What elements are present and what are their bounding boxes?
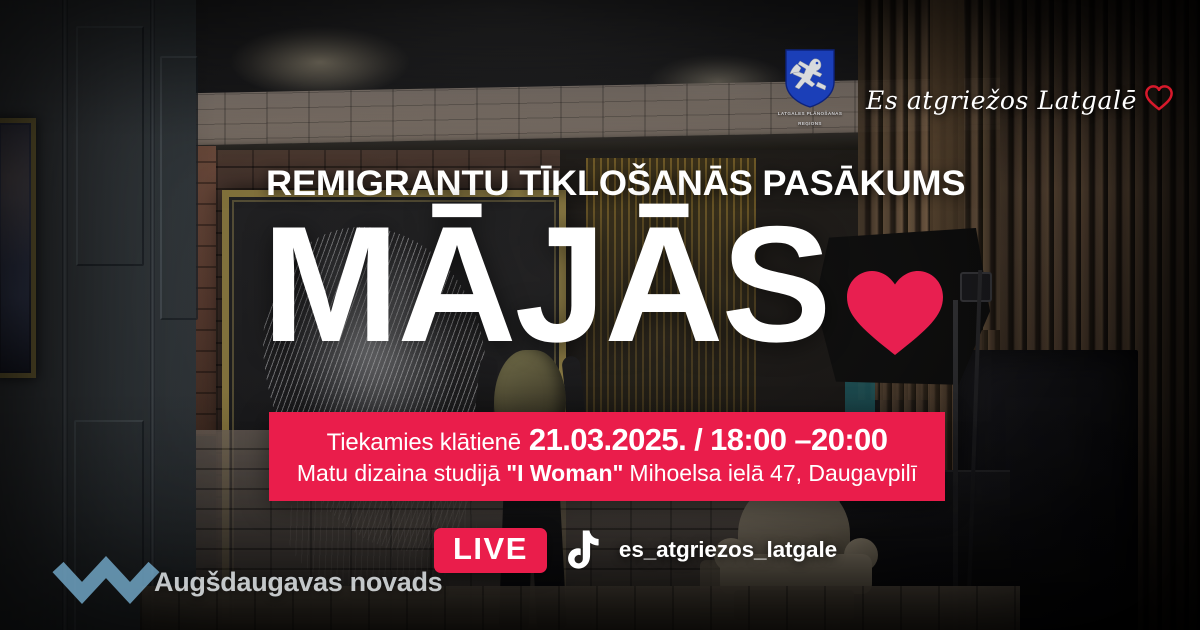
tiktok-icon[interactable] — [565, 529, 603, 571]
coat-of-arms-caption-line1: LATGALES PLĀNOŠANAS — [775, 111, 845, 118]
banner-line-1: Tiekamies klātienē 21.03.2025. / 18:00 –… — [291, 421, 923, 458]
slogan-block: Es atgriežos Latgalē — [866, 84, 1174, 117]
page-title: MĀJĀS — [262, 205, 830, 363]
slogan-text: Es atgriežos Latgalē — [866, 86, 1137, 115]
coat-of-arms-shield-icon — [784, 48, 836, 108]
live-stream-row: LIVE es_atgriezos_latgale — [434, 528, 837, 573]
tiktok-handle[interactable]: es_atgriezos_latgale — [619, 537, 837, 563]
overlay-layer: LATGALES PLĀNOŠANAS REĢIONS Es atgriežos… — [0, 0, 1200, 630]
status-badge: LIVE — [434, 528, 547, 573]
heart-outline-icon — [1144, 84, 1174, 117]
heart-filled-icon — [845, 265, 945, 357]
banner-venue-prefix: Matu dizaina studijā — [297, 459, 500, 488]
banner-lead-text: Tiekamies klātienē — [327, 429, 521, 458]
banner-separator: / — [694, 421, 702, 458]
event-poster: LATGALES PLĀNOŠANAS REĢIONS Es atgriežos… — [0, 0, 1200, 630]
banner-address: Mihoelsa ielā 47, Daugavpilī — [629, 459, 917, 488]
coat-of-arms-caption-line2: REĢIONS — [775, 121, 845, 128]
banner-venue-name: "I Woman" — [506, 459, 623, 488]
coat-of-arms: LATGALES PLĀNOŠANAS REĢIONS — [775, 48, 845, 130]
municipality-name: Augšdaugavas novads — [154, 567, 442, 598]
banner-time: 18:00 –20:00 — [710, 421, 887, 458]
banner-line-2: Matu dizaina studijā "I Woman" Mihoelsa … — [291, 459, 923, 488]
municipality-logo: Augšdaugavas novads — [52, 545, 442, 620]
banner-date: 21.03.2025. — [529, 421, 686, 458]
event-info-banner: Tiekamies klātienē 21.03.2025. / 18:00 –… — [269, 412, 945, 501]
